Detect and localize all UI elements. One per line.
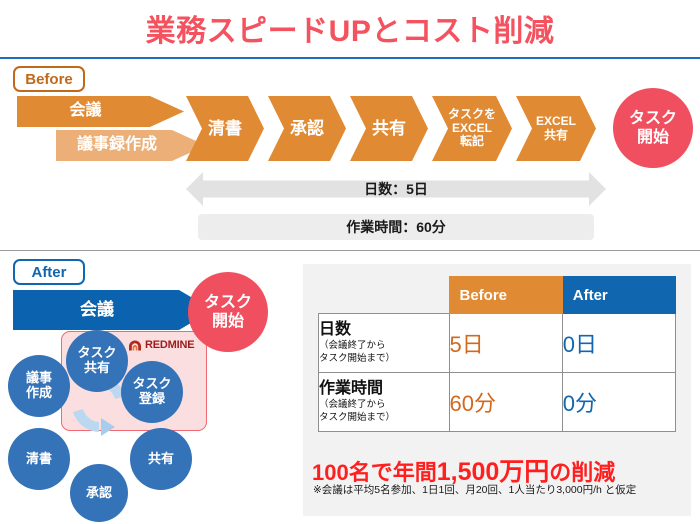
row-1-label: 作業時間 — [319, 380, 449, 398]
after-circle-giji-sakusei: 議事 作成 — [8, 355, 70, 417]
before-days-metric: 日数：5日 — [186, 172, 606, 206]
title-divider — [0, 57, 700, 59]
row-0-after-value: 0日 — [562, 314, 675, 373]
after-circle-5-line1: 共有 — [148, 452, 174, 467]
row-label-sagyoujikan: 作業時間 （会議終了から タスク開始まで） — [319, 373, 450, 432]
slide-root: 業務スピードUPとコスト削減 Before 会議 議事録作成 清書 承認 共有 … — [0, 0, 700, 524]
row-label-nissuu: 日数 （会議終了から タスク開始まで） — [319, 314, 450, 373]
before-arrow-gijiroku: 議事録作成 — [56, 130, 206, 161]
header-before: Before — [449, 277, 562, 314]
row-1-before-value: 60分 — [449, 373, 562, 432]
row-0-label: 日数 — [319, 321, 449, 339]
before-step-kyouyu: 共有 — [350, 96, 428, 161]
after-circle-task-touroku: タスク 登録 — [121, 361, 183, 423]
page-title: 業務スピードUPとコスト削減 — [0, 6, 700, 50]
savings-footnote: ※会議は平均5名参加、1日1回、月20回、1人当たり3,000円/h と仮定 — [313, 482, 691, 497]
excel-tenki-line1: タスクを — [448, 107, 496, 121]
after-circle-0-line2: 共有 — [84, 361, 110, 376]
after-circle-0-line1: タスク — [77, 346, 116, 361]
before-task-start-circle: タスク 開始 — [613, 88, 693, 168]
after-circle-seisho: 清書 — [8, 428, 70, 490]
redmine-arch-icon — [128, 339, 142, 351]
row-0-before-value: 5日 — [449, 314, 562, 373]
header-blank — [319, 277, 450, 314]
before-step-shounin: 承認 — [268, 96, 346, 161]
table-row: 作業時間 （会議終了から タスク開始まで） 60分 0分 — [319, 373, 676, 432]
excel-tenki-line3: 転記 — [460, 134, 484, 148]
header-after: After — [562, 277, 675, 314]
badge-before: Before — [13, 66, 85, 92]
after-arrow-kaigi: 会議 — [13, 290, 213, 330]
badge-after: After — [13, 259, 85, 285]
redmine-logo: REDMINE — [128, 337, 204, 353]
before-task-start-line2: 開始 — [637, 128, 669, 147]
after-task-start-line1: タスク — [204, 293, 252, 312]
table-header-row: Before After — [319, 277, 676, 314]
redmine-logo-text: REDMINE — [145, 339, 194, 351]
before-arrow-kaigi: 会議 — [17, 96, 184, 127]
after-circle-2-line1: 議事 — [26, 371, 52, 386]
comparison-table: Before After 日数 （会議終了から タスク開始まで） 5日 0日 作… — [318, 276, 676, 432]
section-divider — [0, 250, 700, 251]
excel-kyouyu-line1: EXCEL — [536, 114, 576, 128]
after-circle-2-line2: 作成 — [26, 386, 52, 401]
before-task-start-line1: タスク — [629, 109, 677, 128]
excel-kyouyu-line2: 共有 — [544, 128, 568, 142]
after-task-start-line2: 開始 — [212, 312, 244, 331]
after-circle-1-line1: タスク — [132, 377, 171, 392]
row-1-sublabel-line1: （会議終了から — [319, 400, 449, 411]
before-step-seisho: 清書 — [186, 96, 264, 161]
row-1-sublabel-line2: タスク開始まで） — [319, 413, 449, 424]
after-circle-shounin: 承認 — [70, 464, 128, 522]
after-circle-4-line1: 承認 — [86, 486, 112, 501]
after-circle-3-line1: 清書 — [26, 452, 52, 467]
after-circle-1-line2: 登録 — [139, 392, 165, 407]
row-0-sublabel-line2: タスク開始まで） — [319, 354, 449, 365]
before-step-excel-kyouyu: EXCEL 共有 — [516, 96, 596, 161]
after-task-start-circle: タスク 開始 — [188, 272, 268, 352]
after-circle-kyouyu: 共有 — [130, 428, 192, 490]
before-work-metric: 作業時間：60分 — [198, 214, 594, 240]
before-step-excel-tenki: タスクを EXCEL 転記 — [432, 96, 512, 161]
after-circle-task-kyouyu: タスク 共有 — [66, 330, 128, 392]
row-1-after-value: 0分 — [562, 373, 675, 432]
excel-tenki-line2: EXCEL — [452, 121, 492, 135]
table-row: 日数 （会議終了から タスク開始まで） 5日 0日 — [319, 314, 676, 373]
row-0-sublabel-line1: （会議終了から — [319, 341, 449, 352]
